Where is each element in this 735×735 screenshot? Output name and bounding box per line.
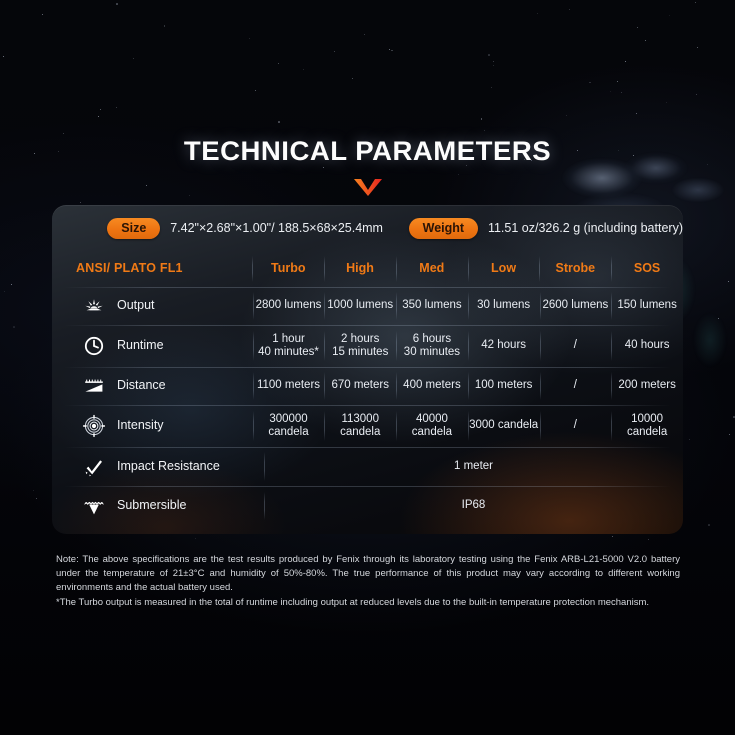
- target-intensity-icon: [82, 414, 106, 438]
- chevron-down-icon: [353, 177, 383, 202]
- cell-output-turbo: 2800 lumens: [253, 287, 325, 325]
- cell-submersible-value: IP68: [264, 486, 683, 526]
- beam-distance-icon: [82, 374, 106, 398]
- header-cell-high: High: [324, 251, 396, 287]
- cell-impact-resistance-value: 1 meter: [264, 447, 683, 486]
- cell-intensity-low: 3000 candela: [468, 405, 540, 447]
- table-row-output: Output 2800 lumens 1000 lumens 350 lumen…: [52, 287, 683, 325]
- row-label-distance: Distance: [52, 367, 253, 405]
- cell-runtime-strobe: /: [540, 325, 612, 367]
- table-row-intensity: Intensity 300000 candela 113000 candela …: [52, 405, 683, 447]
- row-label-text: Runtime: [117, 339, 164, 353]
- row-label-runtime: Runtime: [52, 325, 253, 367]
- technical-parameters-card: Size 7.42"×2.68"×1.00"/ 188.5×68×25.4mm …: [52, 205, 683, 534]
- row-label-text: Submersible: [117, 499, 186, 513]
- header-cell-low: Low: [468, 251, 540, 287]
- footnote-block: Note: The above specifications are the t…: [56, 553, 680, 610]
- parameters-table: ANSI/ PLATO FL1 Turbo High Med Low Strob…: [52, 251, 683, 526]
- header-cell-med: Med: [396, 251, 468, 287]
- weight-value: 11.51 oz/326.2 g (including battery): [488, 221, 683, 235]
- row-label-text: Intensity: [117, 419, 164, 433]
- cell-output-sos: 150 lumens: [611, 287, 683, 325]
- row-label-text: Impact Resistance: [117, 460, 220, 474]
- cell-distance-sos: 200 meters: [611, 367, 683, 405]
- cell-distance-high: 670 meters: [324, 367, 396, 405]
- cell-output-med: 350 lumens: [396, 287, 468, 325]
- header-standard-label: ANSI/ PLATO FL1: [76, 262, 183, 276]
- clock-icon: [82, 334, 106, 358]
- cell-runtime-low: 42 hours: [468, 325, 540, 367]
- header-cell-strobe: Strobe: [539, 251, 611, 287]
- impact-check-icon: [82, 455, 106, 479]
- cell-runtime-sos: 40 hours: [611, 325, 683, 367]
- cell-runtime-turbo: 1 hour 40 minutes*: [253, 325, 325, 367]
- header-cell-turbo: Turbo: [252, 251, 324, 287]
- row-label-submersible: Submersible: [52, 486, 264, 526]
- cell-intensity-strobe: /: [540, 405, 612, 447]
- cell-distance-low: 100 meters: [468, 367, 540, 405]
- row-label-intensity: Intensity: [52, 405, 253, 447]
- table-row-runtime: Runtime 1 hour 40 minutes* 2 hours 15 mi…: [52, 325, 683, 367]
- footnote-line-1: Note: The above specifications are the t…: [56, 553, 680, 596]
- row-label-text: Distance: [117, 379, 166, 393]
- water-drop-icon: [82, 494, 106, 518]
- size-value: 7.42"×2.68"×1.00"/ 188.5×68×25.4mm: [170, 221, 383, 235]
- header-cell-standard: ANSI/ PLATO FL1: [52, 251, 252, 287]
- cell-distance-strobe: /: [540, 367, 612, 405]
- cell-output-strobe: 2600 lumens: [540, 287, 612, 325]
- header-cell-sos: SOS: [611, 251, 683, 287]
- table-row-distance: Distance 1100 meters 670 meters 400 mete…: [52, 367, 683, 405]
- table-row-submersible: Submersible IP68: [52, 486, 683, 526]
- page-title: TECHNICAL PARAMETERS: [0, 136, 735, 167]
- cell-distance-turbo: 1100 meters: [253, 367, 325, 405]
- weight-pill: Weight: [409, 218, 478, 239]
- table-header-row: ANSI/ PLATO FL1 Turbo High Med Low Strob…: [52, 251, 683, 287]
- row-label-impact-resistance: Impact Resistance: [52, 447, 264, 486]
- row-label-output: Output: [52, 287, 253, 325]
- cell-intensity-sos: 10000 candela: [611, 405, 683, 447]
- light-burst-icon: [82, 294, 106, 318]
- row-label-text: Output: [117, 299, 155, 313]
- table-row-impact-resistance: Impact Resistance 1 meter: [52, 447, 683, 486]
- footnote-line-2: *The Turbo output is measured in the tot…: [56, 596, 680, 610]
- cell-runtime-high: 2 hours 15 minutes: [324, 325, 396, 367]
- cell-intensity-turbo: 300000 candela: [253, 405, 325, 447]
- cell-runtime-med: 6 hours 30 minutes: [396, 325, 468, 367]
- size-weight-row: Size 7.42"×2.68"×1.00"/ 188.5×68×25.4mm …: [52, 205, 683, 251]
- cell-output-high: 1000 lumens: [324, 287, 396, 325]
- cell-distance-med: 400 meters: [396, 367, 468, 405]
- cell-intensity-high: 113000 candela: [324, 405, 396, 447]
- cell-intensity-med: 40000 candela: [396, 405, 468, 447]
- cell-output-low: 30 lumens: [468, 287, 540, 325]
- size-pill: Size: [107, 218, 160, 239]
- page-title-block: TECHNICAL PARAMETERS: [0, 136, 735, 202]
